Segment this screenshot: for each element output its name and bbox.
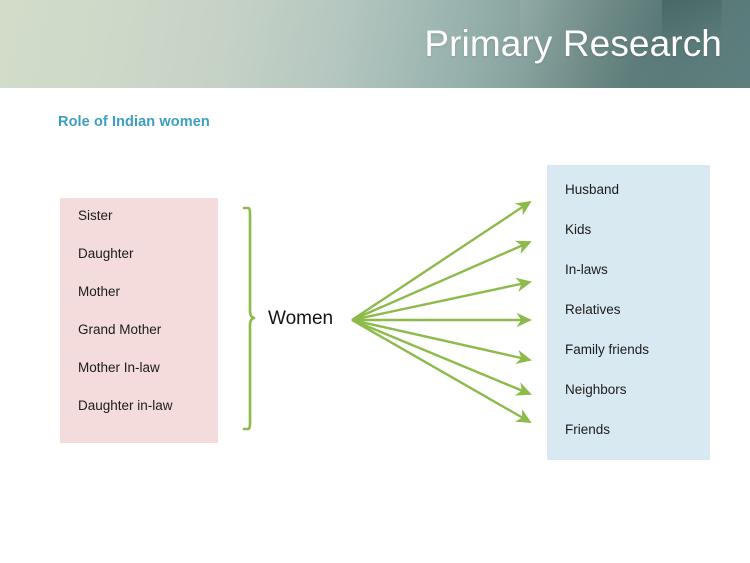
- list-item: Friends: [565, 421, 710, 438]
- center-node-label: Women: [268, 306, 333, 332]
- relations-list: Husband Kids In-laws Relatives Family fr…: [565, 181, 710, 461]
- list-item: Daughter: [78, 245, 218, 262]
- arrow-to-kids: [352, 242, 530, 320]
- slide-canvas: Primary Research Role of Indian women Si…: [0, 0, 750, 563]
- arrow-to-neighbors: [352, 320, 530, 394]
- curly-brace-icon: [228, 205, 258, 433]
- roles-panel: Sister Daughter Mother Grand Mother Moth…: [60, 198, 218, 443]
- arrow-to-husband: [352, 202, 530, 320]
- list-item: Mother: [78, 283, 218, 300]
- list-item: Sister: [78, 207, 218, 224]
- arrow-to-family-friends: [352, 320, 530, 360]
- list-item: Family friends: [565, 341, 710, 358]
- list-item: Neighbors: [565, 381, 710, 398]
- arrow-to-friends: [352, 320, 530, 422]
- slide-header-banner: Primary Research: [0, 0, 750, 88]
- list-item: Relatives: [565, 301, 710, 318]
- list-item: In-laws: [565, 261, 710, 278]
- arrow-fan-connectors: [344, 186, 544, 430]
- relations-panel: Husband Kids In-laws Relatives Family fr…: [547, 165, 710, 460]
- list-item: Mother In-law: [78, 359, 218, 376]
- section-subtitle: Role of Indian women: [58, 114, 210, 130]
- list-item: Daughter in-law: [78, 397, 218, 414]
- list-item: Grand Mother: [78, 321, 218, 338]
- list-item: Husband: [565, 181, 710, 198]
- list-item: Kids: [565, 221, 710, 238]
- roles-list: Sister Daughter Mother Grand Mother Moth…: [78, 207, 218, 435]
- slide-title: Primary Research: [424, 22, 722, 66]
